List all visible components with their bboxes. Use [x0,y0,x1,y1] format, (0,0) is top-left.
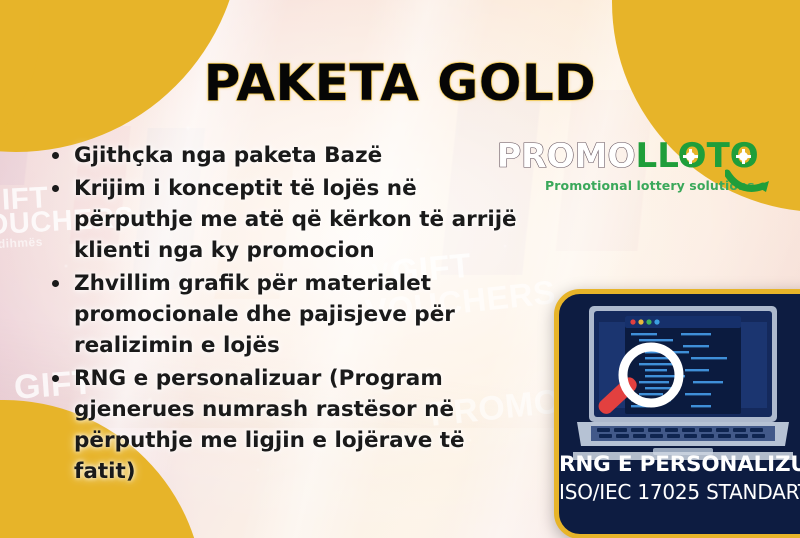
list-item: Gjithçka nga paketa Bazë [40,140,532,171]
rng-card-subtitle: ISO/IEC 17025 STANDARTS [559,480,800,504]
logo-wordmark: PROMO LLOTO [497,139,797,173]
promo-slide: GIFT VOUCHERS ndihmës VO GIFT VOUCHERS G… [0,0,800,538]
logo-word-lloto: LLOTO [636,139,759,173]
promolloto-logo: PROMO LLOTO Promotional lottery solution… [497,139,797,203]
laptop-code-magnifier-illustration [573,302,793,460]
curved-arrow-icon [725,169,771,195]
list-item: Zhvillim grafik për materialet promocion… [40,268,532,361]
list-item: RNG e personalizuar (Program gjenerues n… [40,363,532,487]
slide-title: PAKETA GOLD [0,54,800,112]
lloto-crosshair-icon-1 [686,152,695,161]
watermark-sub-left: ndihmës [0,235,43,252]
lloto-crosshair-icon-2 [739,152,748,161]
rng-certification-card: RNG E PERSONALIZUAR ISO/IEC 17025 STANDA… [554,289,800,538]
feature-list: Gjithçka nga paketa Bazë Krijim i koncep… [40,140,532,489]
list-item: Krijim i konceptit të lojës në përputhje… [40,173,532,266]
logo-tagline: Promotional lottery solutions [545,178,755,193]
logo-word-promo: PROMO [497,139,636,172]
rng-card-title: RNG E PERSONALIZUAR [559,452,800,477]
